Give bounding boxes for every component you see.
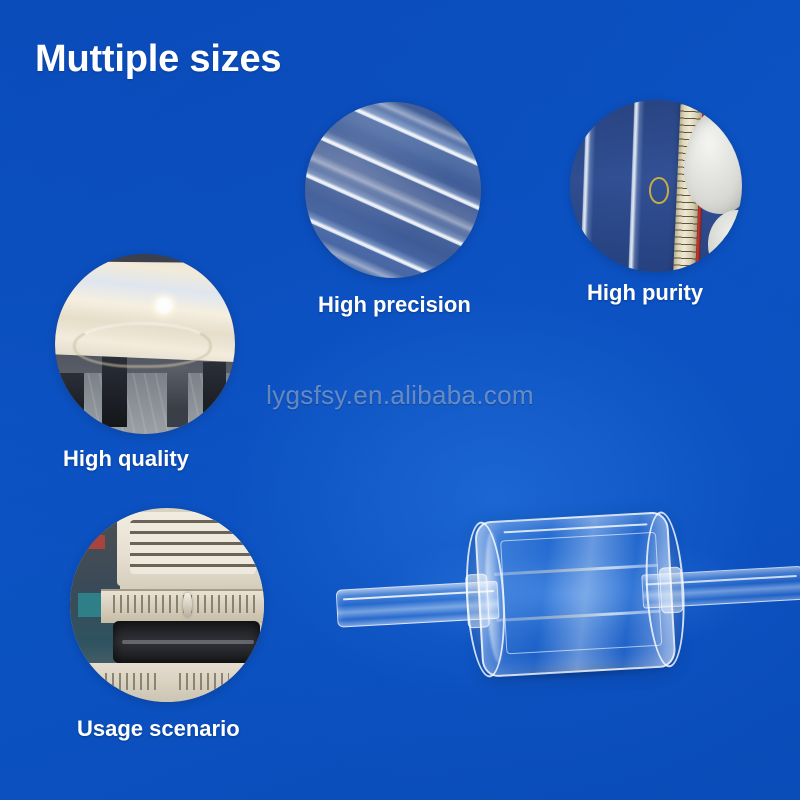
muffle-furnace-photo <box>70 508 264 702</box>
quartz-tubes-ruler-photo <box>570 100 742 272</box>
feature-high-precision: High precision <box>305 102 481 278</box>
feature-high-quality: High quality <box>55 254 235 434</box>
quartz-rods-photo <box>305 102 481 278</box>
feature-usage-scenario: Usage scenario <box>70 508 264 702</box>
page-title: Muttiple sizes <box>35 38 281 81</box>
feature-high-purity: High purity <box>570 100 742 272</box>
quartz-slab-photo <box>55 254 235 434</box>
feature-caption-high-quality: High quality <box>63 446 189 472</box>
product-banner: Muttiple sizes High precision High purit… <box>0 0 800 800</box>
feature-caption-usage-scenario: Usage scenario <box>77 716 240 742</box>
quartz-vessel-photo <box>330 495 800 685</box>
feature-caption-high-purity: High purity <box>587 280 703 306</box>
feature-caption-high-precision: High precision <box>318 292 471 318</box>
